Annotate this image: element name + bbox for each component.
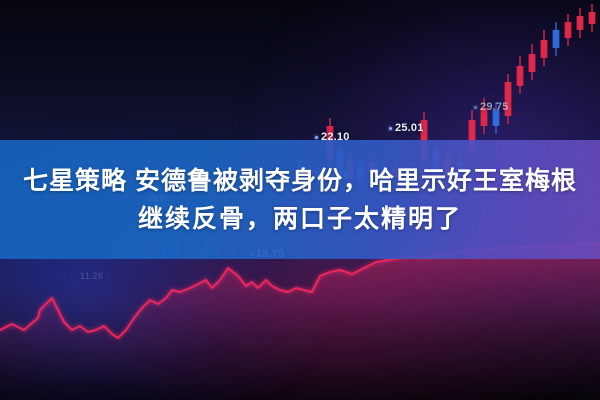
banner-image: 22.1025.0129.7524.7810.0718.7511.28 七星策略… [0, 0, 600, 400]
price-label: 29.75 [474, 101, 509, 113]
headline-line-2: 继续反骨，两口子太精明了 [138, 203, 462, 235]
headline-line-1: 七星策略 安德鲁被剥夺身份，哈里示好王室梅根 [23, 165, 577, 197]
price-label: 25.01 [389, 122, 424, 134]
line-area-fill [0, 244, 600, 400]
price-label: 11.28 [80, 271, 103, 281]
headline-band: 七星策略 安德鲁被剥夺身份，哈里示好王室梅根 继续反骨，两口子太精明了 [0, 140, 600, 259]
